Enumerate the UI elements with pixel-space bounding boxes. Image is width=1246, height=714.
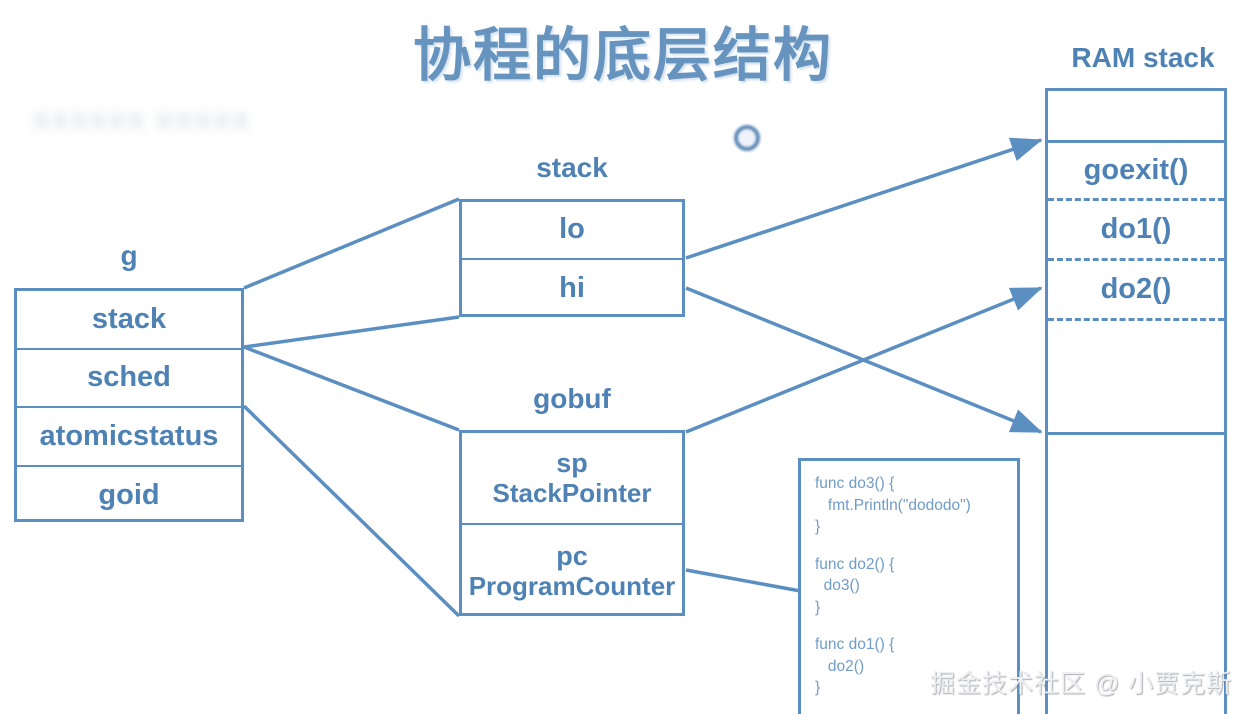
stack-row-hi: hi [462,260,682,318]
watermark: 掘金技术社区 @ 小贾克斯 [930,664,1232,700]
arrow-lo-to-ram-top [686,140,1041,258]
code-line: } [815,516,1017,538]
code-line: } [815,597,1017,619]
dot-icon [734,125,760,151]
gobuf-sp-sublabel: StackPointer [493,479,652,507]
g-row-stack: stack [17,291,241,350]
g-struct-box: stack sched atomicstatus goid [14,288,244,522]
gobuf-pc-sublabel: ProgramCounter [469,572,676,600]
ram-cell-empty-mid [1048,321,1224,435]
ram-stack-box: goexit() do1() do2() [1045,88,1227,714]
g-struct-caption: g [14,240,244,272]
code-line: func do2() { [815,554,1017,576]
arrow-sp-to-ram-mid [686,288,1041,432]
connector-g-gobuf-top [244,347,459,430]
gobuf-row-pc: pc ProgramCounter [462,525,682,617]
stack-row-lo: lo [462,202,682,260]
ram-cell-empty-top [1048,91,1224,143]
code-line: fmt.Println("dododo") [815,495,1017,517]
connector-g-gobuf-bottom [244,406,459,616]
g-row-goid: goid [17,467,241,526]
code-line-blank [815,538,1017,554]
code-line: func do1() { [815,634,1017,656]
gobuf-row-sp: sp StackPointer [462,433,682,525]
ram-cell-do2: do2() [1048,261,1224,321]
slide-canvas: 协程的底层结构 XXXXXX XXXXX g stack sched atomi… [0,0,1246,714]
gobuf-struct-box: sp StackPointer pc ProgramCounter [459,430,685,616]
ram-cell-do1: do1() [1048,201,1224,261]
connector-g-stack-top [244,199,459,288]
stack-struct-box: lo hi [459,199,685,317]
ram-cell-goexit: goexit() [1048,143,1224,201]
gobuf-sp-label: sp [556,448,588,478]
code-line-blank [815,618,1017,634]
faded-placeholder-text: XXXXXX XXXXX [33,108,252,136]
code-line: func do3() { [815,473,1017,495]
g-row-sched: sched [17,350,241,409]
code-line: do3() [815,575,1017,597]
ram-stack-caption: RAM stack [1035,42,1246,74]
gobuf-pc-label: pc [556,541,588,571]
g-row-atomicstatus: atomicstatus [17,408,241,467]
stack-struct-caption: stack [459,152,685,184]
connector-g-stack-bottom [244,317,459,347]
gobuf-struct-caption: gobuf [459,383,685,415]
arrow-hi-to-ram-bottom [686,288,1041,432]
